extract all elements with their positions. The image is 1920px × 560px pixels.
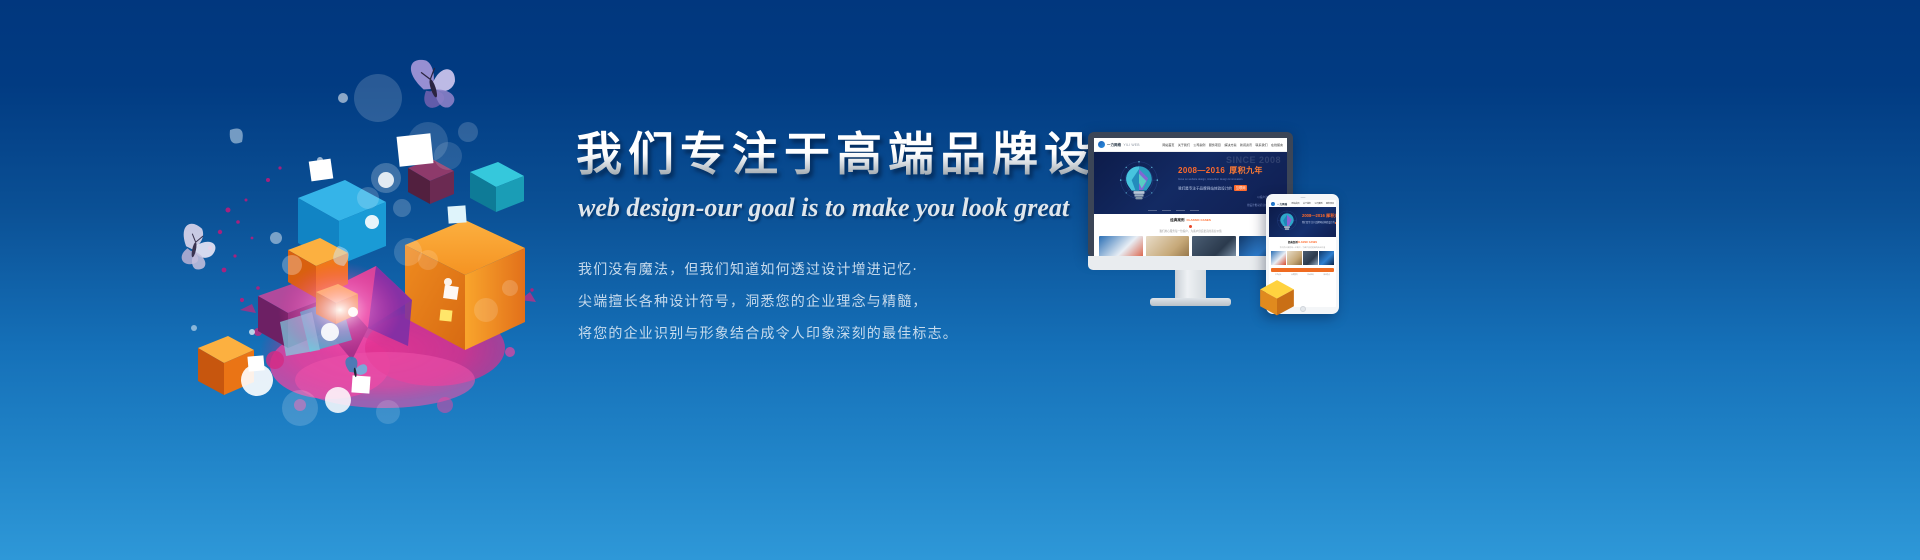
thumbnail-caption: 网站建设	[1319, 274, 1334, 276]
monitor-screen: 一力网络 YILI WEB 网站首页 关于我们 公司案例 服务项目 解决方案 新…	[1094, 138, 1287, 256]
center-glow	[278, 262, 402, 358]
page-title: 我们专注于高端品牌设计	[576, 128, 1096, 181]
hero-small-line-1: 以客户为中心出发	[1178, 195, 1278, 199]
nav-item[interactable]: 关于我们	[1178, 143, 1190, 147]
butterfly-top	[408, 51, 463, 115]
desktop-monitor-mockup: 一力网络 YILI WEB 网站首页 关于我们 公司案例 服务项目 解决方案 新…	[1088, 132, 1293, 256]
case-thumbnail[interactable]	[1146, 236, 1190, 256]
hero-years-en: focus on website design, interaction des…	[1178, 178, 1278, 181]
hero-badge: 互联网	[1234, 185, 1248, 191]
hero-years-range: 2008—2016	[1178, 166, 1225, 175]
site-logo-tagline: YILI WEB	[1123, 143, 1139, 147]
tablet-section-title: 经典案例CLASSIC CASES	[1269, 237, 1336, 244]
lightbulb-graphic	[1275, 210, 1299, 235]
section-title: 经典案例CLASSIC CASES	[1099, 218, 1282, 223]
tablet-nav-items: 网站首页 关于我们 公司案例 服务项目	[1291, 202, 1334, 205]
nav-item[interactable]: 公司案例	[1193, 143, 1205, 147]
hero-tagline-text: 我们是专注于品牌网站体验设计的	[1178, 186, 1232, 190]
butterfly-left	[177, 222, 220, 272]
tablet-hero-years: 2008—2016 厚积九年	[1302, 213, 1336, 219]
case-thumbnail[interactable]	[1287, 251, 1302, 265]
site-content: 经典案例CLASSIC CASES 我们用心服务每一位客户，为客户创造更高的商业…	[1094, 214, 1287, 256]
nav-item[interactable]: 网站首页	[1291, 202, 1299, 205]
tablet-years-range: 2008—2016	[1302, 213, 1325, 218]
section-description: 我们用心服务每一位客户，为客户创造更高的商业价值	[1099, 229, 1282, 233]
carousel-dot[interactable]	[1148, 210, 1157, 211]
tablet-hero-badge: 互联网	[1335, 222, 1336, 224]
abstract-artwork	[180, 60, 580, 460]
hero-years-cn: 厚积九年	[1229, 166, 1263, 175]
carousel-dot[interactable]	[1190, 210, 1199, 211]
logo-mark-icon	[1271, 202, 1275, 206]
site-hero-banner: SINCE 2008	[1094, 152, 1287, 214]
tablet-tagline-text: 我们是专注于品牌网站体验设计的	[1302, 222, 1335, 224]
tablet-hero: 2008—2016 厚积九年 我们是专注于品牌网站体验设计的互联网	[1269, 207, 1336, 237]
hero-copy: 2008—2016厚积九年 focus on website design, i…	[1178, 165, 1278, 207]
hero-description: 我们没有魔法，但我们知道如何透过设计增进记忆· 尖端擅长各种设计符号，洞悉您的企…	[576, 259, 1096, 343]
nav-item[interactable]: 关于我们	[1303, 202, 1311, 205]
site-logo-text: 一力网络	[1107, 142, 1121, 147]
orange-3d-cube-accent	[1254, 274, 1300, 320]
site-nav-items: 网站首页 关于我们 公司案例 服务项目 解决方案 新闻资讯 联系我们 在线留言	[1162, 143, 1283, 147]
case-thumbnail[interactable]	[1271, 251, 1286, 265]
nav-item[interactable]: 公司案例	[1314, 202, 1322, 205]
hero-watermark: SINCE 2008	[1226, 155, 1281, 165]
tablet-site-navbar: 一力网络 网站首页 关于我们 公司案例 服务项目	[1269, 200, 1336, 207]
hero-banner: 我们专注于高端品牌设计 web design-our goal is to ma…	[0, 0, 1920, 560]
nav-item[interactable]: 解决方案	[1224, 143, 1236, 147]
hero-carousel-dots[interactable]	[1148, 210, 1199, 211]
case-thumbnail-row	[1099, 236, 1282, 256]
logo-mark-icon	[1098, 141, 1105, 148]
page-subtitle: web design-our goal is to make you look …	[578, 193, 1096, 223]
hero-text-block: 我们专注于高端品牌设计 web design-our goal is to ma…	[576, 128, 1096, 355]
monitor-stand-base	[1150, 298, 1231, 306]
case-thumbnail[interactable]	[1303, 251, 1318, 265]
tablet-thumbnail-row	[1269, 251, 1336, 265]
teal-cube	[470, 162, 524, 212]
lightbulb-graphic	[1116, 160, 1162, 208]
nav-item[interactable]: 网站首页	[1162, 143, 1174, 147]
tablet-section-title-cn: 经典案例	[1288, 241, 1298, 244]
section-title-en: CLASSIC CASES	[1187, 218, 1211, 222]
tablet-section-description: 我们用心服务每一位客户，为客户创造更高的商业价值	[1269, 246, 1336, 249]
section-title-cn: 经典案例	[1170, 218, 1184, 222]
case-thumbnail[interactable]	[1192, 236, 1236, 256]
description-line-3: 将您的企业识别与形象结合成令人印象深刻的最佳标志。	[578, 323, 1096, 343]
tablet-section-title-en: CLASSIC CASES	[1298, 241, 1317, 244]
device-mockups: 一力网络 YILI WEB 网站首页 关于我们 公司案例 服务项目 解决方案 新…	[1088, 132, 1358, 322]
carousel-dot[interactable]	[1162, 210, 1171, 211]
nav-item[interactable]: 服务项目	[1209, 143, 1221, 147]
tablet-years-cn: 厚积九年	[1326, 213, 1336, 218]
hero-years: 2008—2016厚积九年	[1178, 165, 1278, 176]
tablet-hero-tagline: 我们是专注于品牌网站体验设计的互联网	[1302, 220, 1336, 224]
carousel-dot[interactable]	[1176, 210, 1185, 211]
nav-item[interactable]: 新闻资讯	[1240, 143, 1252, 147]
case-thumbnail[interactable]	[1099, 236, 1143, 256]
site-logo: 一力网络 YILI WEB	[1098, 141, 1140, 148]
nav-item[interactable]: 在线留言	[1271, 143, 1283, 147]
description-line-1: 我们没有魔法，但我们知道如何透过设计增进记忆·	[578, 259, 1096, 279]
nav-item[interactable]: 联系我们	[1255, 143, 1267, 147]
thumbnail-caption: 移动应用	[1303, 274, 1318, 276]
monitor-chin	[1088, 256, 1293, 270]
site-navbar: 一力网络 YILI WEB 网站首页 关于我们 公司案例 服务项目 解决方案 新…	[1094, 138, 1287, 152]
monitor-stand-neck	[1175, 270, 1206, 298]
hero-small-line-2: 用设计推动商业价值的实现	[1178, 203, 1278, 207]
section-divider-dot	[1189, 225, 1192, 228]
tablet-logo-text: 一力网络	[1277, 202, 1287, 206]
description-line-2: 尖端擅长各种设计符号，洞悉您的企业理念与精髓，	[578, 291, 1096, 311]
case-thumbnail[interactable]	[1319, 251, 1334, 265]
hero-tagline: 我们是专注于品牌网站体验设计的互联网	[1178, 185, 1278, 192]
nav-item[interactable]: 服务项目	[1326, 202, 1334, 205]
